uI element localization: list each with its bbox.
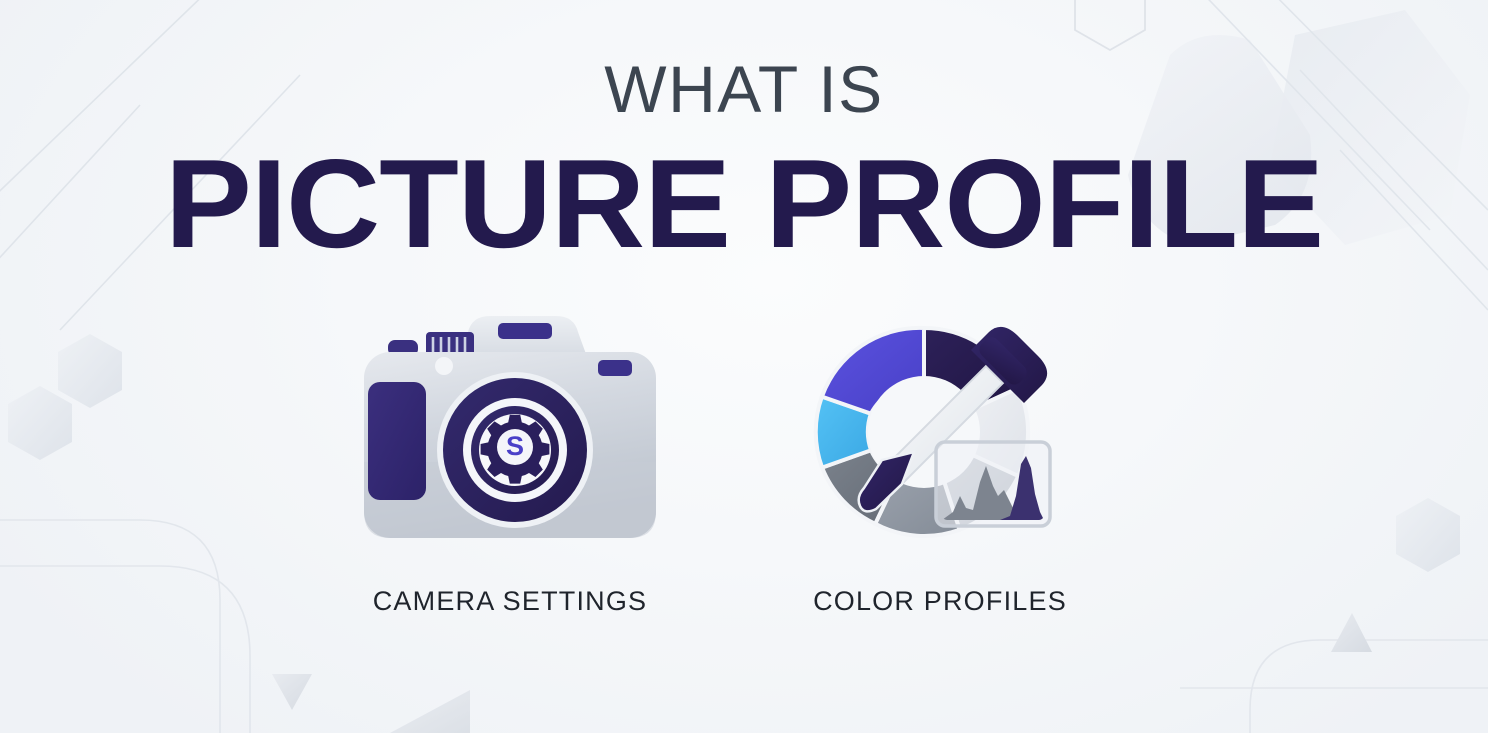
camera-side-button — [598, 360, 632, 376]
gear-icon: S — [481, 415, 550, 484]
decor-triangle-sliver-bottom-left — [390, 690, 470, 733]
feature-row: S CAMERA SETTINGS — [330, 310, 1130, 650]
decor-hex-outline-top — [1075, 0, 1145, 50]
camera-prism-button — [498, 323, 552, 339]
color-wheel-eyedropper-histogram-icon — [790, 310, 1090, 550]
gear-badge-letter: S — [506, 431, 524, 461]
feature-camera-settings[interactable]: S CAMERA SETTINGS — [330, 310, 690, 617]
eyebrow-text: WHAT IS — [0, 56, 1488, 122]
poster-canvas: WHAT IS PICTURE PROFILE — [0, 0, 1488, 733]
feature-camera-settings-label: CAMERA SETTINGS — [373, 586, 648, 617]
decor-hex-right — [1396, 498, 1460, 572]
decor-corner-tracks-bottom-left — [0, 520, 250, 733]
feature-color-profiles[interactable]: COLOR PROFILES — [760, 310, 1120, 617]
decor-triangle-up-bottom-right — [1331, 613, 1372, 652]
page-title: PICTURE PROFILE — [0, 141, 1488, 267]
decor-triangle-down-bottom-left — [272, 674, 312, 710]
camera-settings-icon: S — [360, 310, 660, 550]
decor-hex-left-upper — [58, 334, 122, 408]
camera-af-dot — [435, 357, 453, 375]
camera-grip — [368, 382, 426, 500]
decor-corner-tracks-bottom-right — [1180, 640, 1488, 733]
decor-hex-left-lower — [8, 386, 72, 460]
histogram-panel — [936, 442, 1050, 526]
feature-color-profiles-label: COLOR PROFILES — [813, 586, 1067, 617]
